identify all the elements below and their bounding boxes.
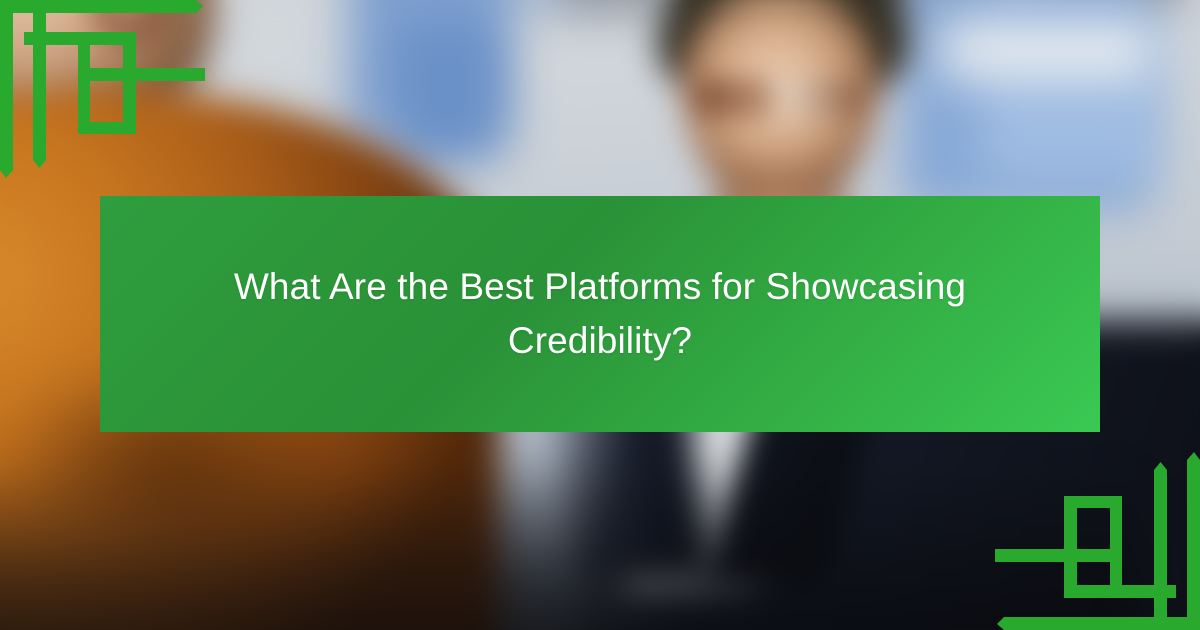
bottom-vignette bbox=[0, 460, 1140, 630]
title-banner: What Are the Best Platforms for Showcasi… bbox=[100, 196, 1100, 432]
window-pane bbox=[940, 20, 1150, 80]
featured-image-canvas: What Are the Best Platforms for Showcasi… bbox=[0, 0, 1200, 630]
page-title: What Are the Best Platforms for Showcasi… bbox=[210, 260, 990, 367]
background-person-glasses bbox=[694, 78, 864, 118]
window-pane bbox=[560, 0, 680, 10]
window-pane bbox=[395, 20, 500, 160]
